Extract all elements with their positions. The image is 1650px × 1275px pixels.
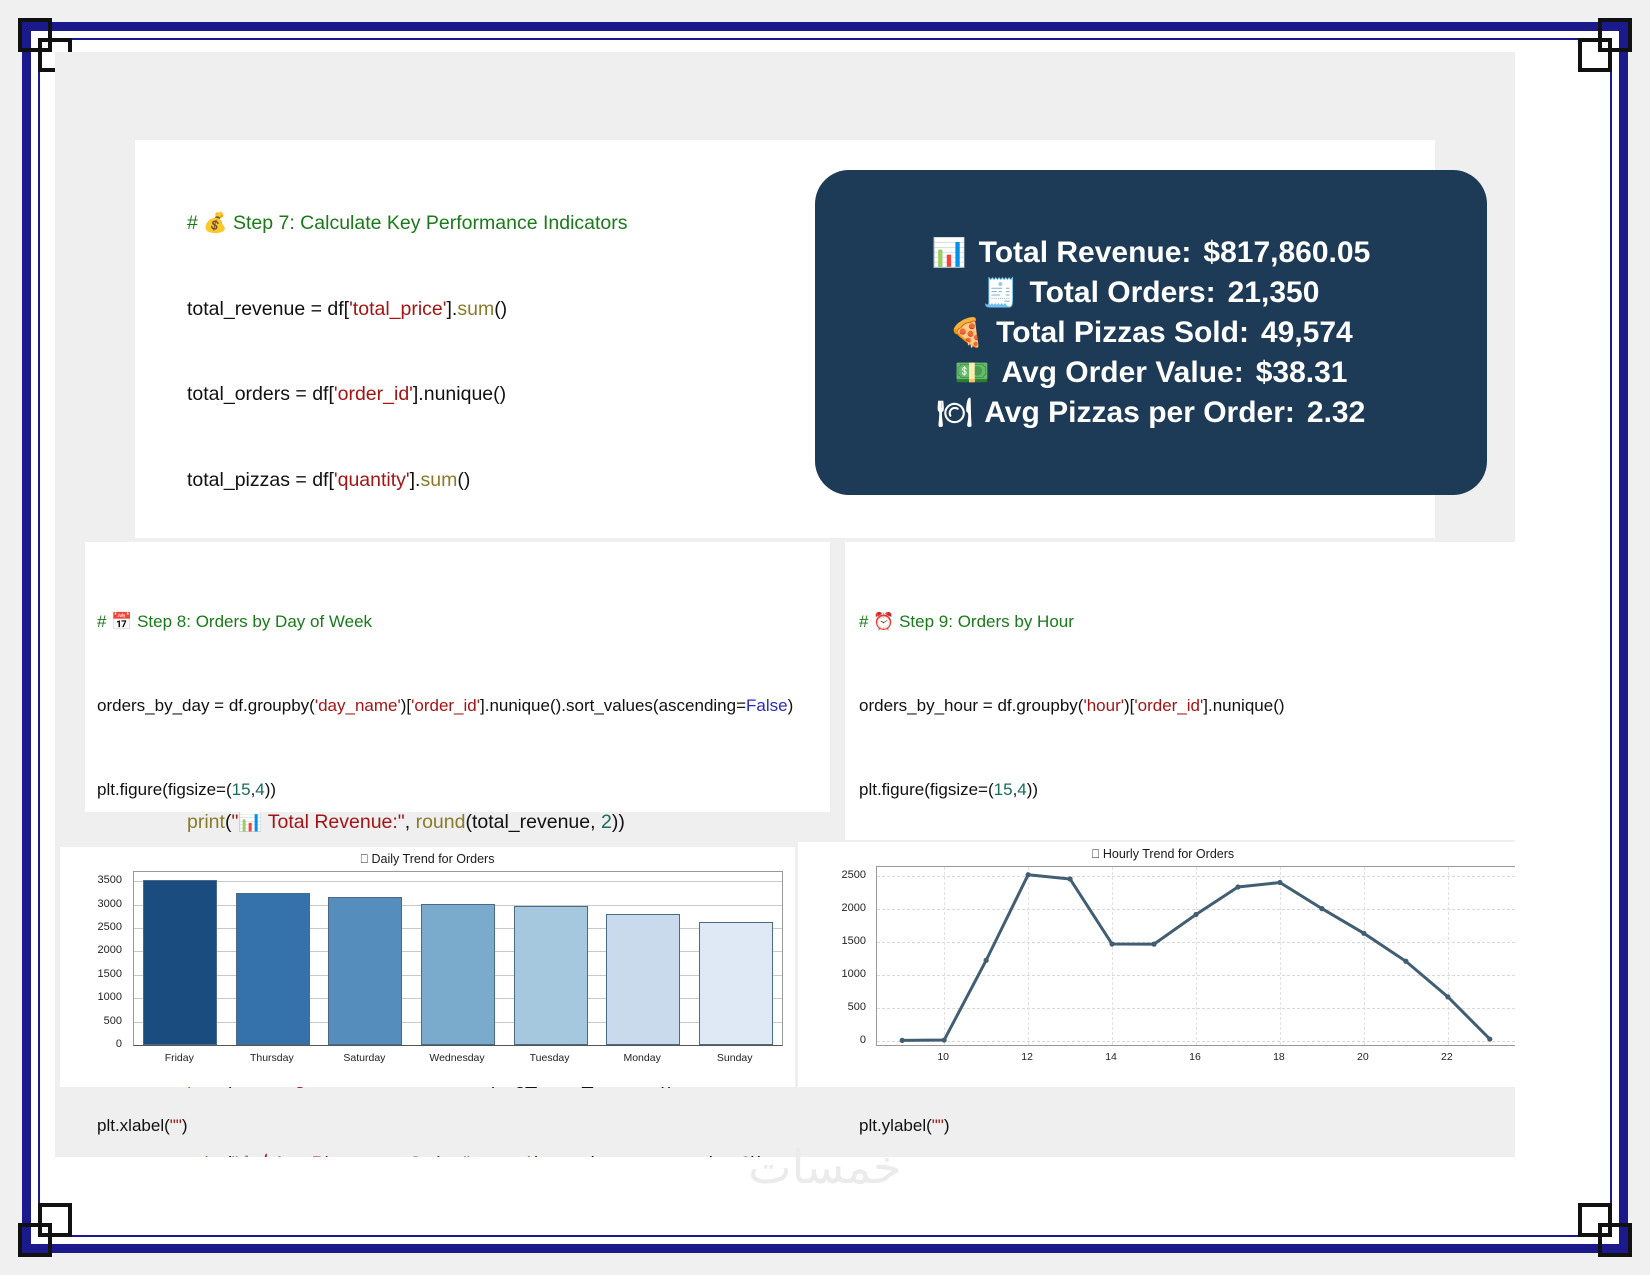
- bar: [514, 906, 588, 1045]
- data-point: [1193, 912, 1198, 917]
- y-tick-label: 2000: [55, 944, 122, 956]
- bar: [236, 893, 310, 1045]
- y-tick-label: 1500: [55, 968, 122, 980]
- kpi-row-total-pizzas-sold: 🍕 Total Pizzas Sold: 49,574: [949, 316, 1352, 350]
- kpi-label: Avg Pizzas per Order:: [984, 396, 1295, 430]
- y-tick-label: 0: [790, 1034, 866, 1046]
- code-line: plt.xlabel(""): [97, 1112, 830, 1140]
- gridline: [134, 881, 782, 882]
- kpi-label: Total Pizzas Sold:: [996, 316, 1249, 350]
- money-bag-icon: 💰: [203, 211, 227, 234]
- y-tick-label: 1500: [790, 935, 866, 947]
- data-point: [1235, 884, 1240, 889]
- code-line: plt.figure(figsize=(15,4)): [859, 776, 1515, 804]
- calendar-icon: ⎕: [361, 851, 369, 866]
- notebook-canvas: # 💰 Step 7: Calculate Key Performance In…: [55, 52, 1515, 1157]
- kpi-row-total-revenue: 📊 Total Revenue: $817,860.05: [932, 236, 1371, 270]
- bar-chart-icon: 📊: [932, 236, 967, 269]
- y-tick-label: 2500: [790, 869, 866, 881]
- money-note-icon: 💵: [955, 356, 990, 389]
- y-tick-label: 0: [55, 1038, 122, 1050]
- y-tick-label: 1000: [55, 991, 122, 1003]
- kpi-value: $38.31: [1256, 356, 1348, 390]
- code-line: plt.ylabel(""): [859, 1112, 1515, 1140]
- kpi-row-total-orders: 🧾 Total Orders: 21,350: [983, 276, 1320, 310]
- data-point: [984, 958, 989, 963]
- step9-comment-line: # ⏰ Step 9: Orders by Hour: [859, 608, 1515, 636]
- kpi-label: Total Revenue:: [979, 236, 1192, 270]
- code-cell-step8[interactable]: # 📅 Step 8: Orders by Day of Week orders…: [85, 542, 830, 812]
- x-tick-label: Sunday: [717, 1052, 753, 1064]
- step8-comment-line: # 📅 Step 8: Orders by Day of Week: [97, 608, 830, 636]
- line-chart-plot-area: [876, 866, 1515, 1046]
- kpi-row-avg-pizzas-per-order: 🍽 Avg Pizzas per Order: 2.32: [937, 396, 1366, 430]
- kpi-value: 2.32: [1307, 396, 1365, 430]
- bar: [606, 914, 680, 1045]
- bar: [328, 897, 402, 1045]
- x-tick-label: Monday: [623, 1052, 660, 1064]
- x-tick-label: 16: [1189, 1051, 1201, 1063]
- corner-ornament-top-right-b: [1578, 38, 1612, 72]
- x-tick-label: 18: [1273, 1051, 1285, 1063]
- data-point: [1319, 906, 1324, 911]
- corner-ornament-bottom-right-b: [1578, 1203, 1612, 1237]
- y-tick-label: 2000: [790, 902, 866, 914]
- x-tick-label: Tuesday: [530, 1052, 570, 1064]
- alarm-clock-icon: ⎕: [1092, 846, 1100, 861]
- x-tick-label: Wednesday: [429, 1052, 484, 1064]
- y-tick-label: 2500: [55, 921, 122, 933]
- x-tick-label: 14: [1105, 1051, 1117, 1063]
- data-point: [1445, 994, 1450, 999]
- data-point: [1067, 876, 1072, 881]
- bar-chart-title: ⎕ Daily Trend for Orders: [60, 847, 795, 867]
- data-point: [1026, 872, 1031, 877]
- line-series: [877, 867, 1515, 1045]
- corner-ornament-bottom-left-b: [38, 1203, 72, 1237]
- kpi-value: 21,350: [1228, 276, 1320, 310]
- bar: [699, 922, 773, 1045]
- kpi-value: $817,860.05: [1203, 236, 1370, 270]
- y-tick-label: 3500: [55, 874, 122, 886]
- line-chart-hourly-trend: ⎕ Hourly Trend for Orders 05001000150020…: [798, 842, 1515, 1087]
- data-point: [942, 1037, 947, 1042]
- receipt-icon: 🧾: [983, 276, 1018, 309]
- x-tick-label: Thursday: [250, 1052, 294, 1064]
- bar: [143, 880, 217, 1045]
- kpi-output-card: 📊 Total Revenue: $817,860.05 🧾 Total Ord…: [815, 170, 1487, 495]
- kpi-label: Avg Order Value:: [1001, 356, 1243, 390]
- line-chart-title-text: Hourly Trend for Orders: [1103, 847, 1234, 861]
- pizza-icon: 🍕: [949, 316, 984, 349]
- y-tick-label: 500: [790, 1001, 866, 1013]
- x-tick-label: 10: [937, 1051, 949, 1063]
- data-point: [1151, 942, 1156, 947]
- alarm-clock-icon: ⏰: [873, 612, 894, 632]
- code-line: orders_by_hour = df.groupby('hour')['ord…: [859, 692, 1515, 720]
- code-line: orders_by_day = df.groupby('day_name')['…: [97, 692, 830, 720]
- data-point: [1487, 1036, 1492, 1041]
- data-point: [1109, 941, 1114, 946]
- line-chart-title: ⎕ Hourly Trend for Orders: [798, 842, 1515, 862]
- bar-chart-daily-trend: ⎕ Daily Trend for Orders 050010001500200…: [60, 847, 795, 1087]
- data-point: [1277, 880, 1282, 885]
- x-tick-label: 20: [1357, 1051, 1369, 1063]
- x-tick-label: Friday: [165, 1052, 194, 1064]
- data-point: [900, 1038, 905, 1043]
- plate-icon: 🍽: [937, 396, 973, 429]
- y-tick-label: 3000: [55, 898, 122, 910]
- bar-chart-title-text: Daily Trend for Orders: [372, 852, 495, 866]
- x-tick-label: Saturday: [343, 1052, 385, 1064]
- data-point: [1361, 931, 1366, 936]
- data-point: [1403, 959, 1408, 964]
- kpi-row-avg-order-value: 💵 Avg Order Value: $38.31: [955, 356, 1348, 390]
- y-tick-label: 500: [55, 1015, 122, 1027]
- y-tick-label: 1000: [790, 968, 866, 980]
- code-line: plt.figure(figsize=(15,4)): [97, 776, 830, 804]
- x-tick-label: 22: [1441, 1051, 1453, 1063]
- bar: [421, 904, 495, 1045]
- x-tick-label: 12: [1021, 1051, 1033, 1063]
- code-cell-step9[interactable]: # ⏰ Step 9: Orders by Hour orders_by_hou…: [845, 542, 1515, 840]
- kpi-value: 49,574: [1261, 316, 1353, 350]
- bar-chart-plot-area: [133, 871, 783, 1046]
- calendar-icon: 📅: [111, 612, 132, 632]
- kpi-label: Total Orders:: [1029, 276, 1215, 310]
